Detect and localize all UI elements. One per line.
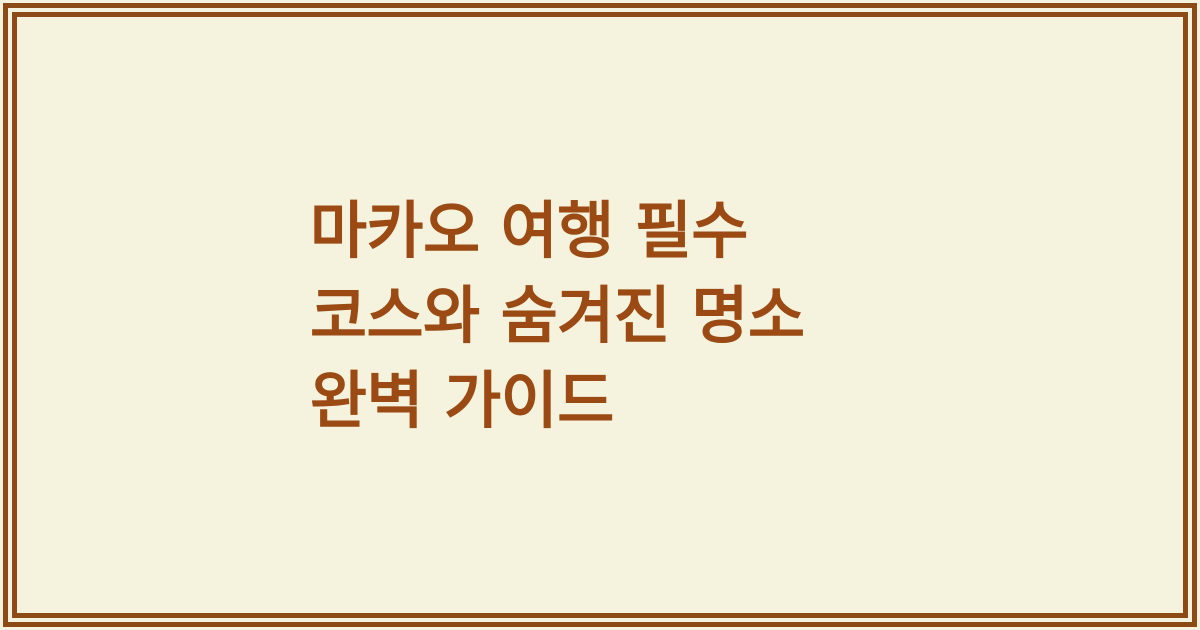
title-line-3: 완벽 가이드 xyxy=(310,358,805,443)
title-line-1: 마카오 여행 필수 xyxy=(310,188,805,273)
title-block: 마카오 여행 필수 코스와 숨겨진 명소 완벽 가이드 xyxy=(0,0,1200,630)
title-line-2: 코스와 숨겨진 명소 xyxy=(310,273,805,358)
thumbnail-banner: 마카오 여행 필수 코스와 숨겨진 명소 완벽 가이드 xyxy=(0,0,1200,630)
page-title: 마카오 여행 필수 코스와 숨겨진 명소 완벽 가이드 xyxy=(310,188,805,443)
